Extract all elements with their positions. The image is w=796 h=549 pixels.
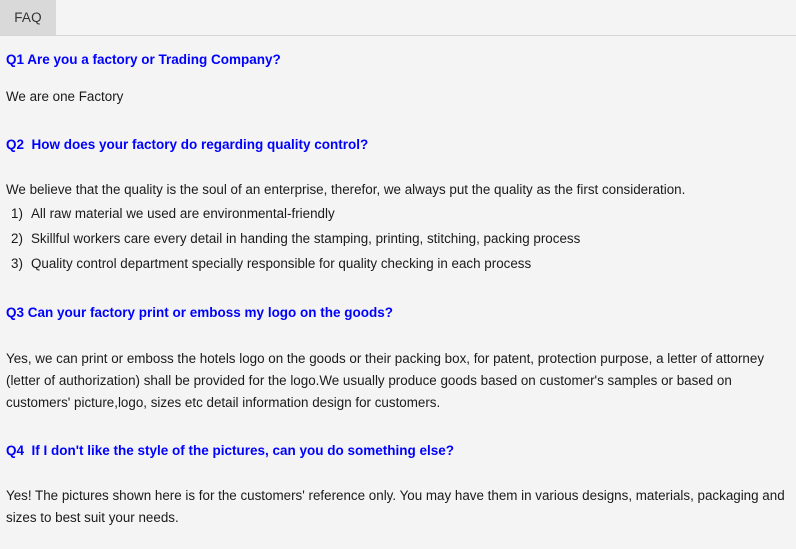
- list-item-marker: 2): [6, 226, 31, 251]
- faq-answer-2-list: 1) All raw material we used are environm…: [6, 201, 790, 276]
- list-item-label: Skillful workers care every detail in ha…: [31, 226, 580, 251]
- list-item-label: Quality control department specially res…: [31, 251, 531, 276]
- faq-answer-2-intro: We believe that the quality is the soul …: [6, 179, 790, 201]
- faq-content: Q1 Are you a factory or Trading Company?…: [0, 52, 796, 549]
- faq-answer-4: Yes! The pictures shown here is for the …: [6, 485, 790, 529]
- list-item: 2) Skillful workers care every detail in…: [6, 226, 790, 251]
- list-item-label: All raw material we used are environment…: [31, 201, 335, 226]
- list-item-marker: 3): [6, 251, 31, 276]
- list-item-marker: 1): [6, 201, 31, 226]
- faq-question-4: Q4 If I don't like the style of the pict…: [6, 443, 790, 459]
- tab-faq[interactable]: FAQ: [0, 0, 56, 35]
- faq-answer-1: We are one Factory: [6, 86, 790, 108]
- list-item: 3) Quality control department specially …: [6, 251, 790, 276]
- faq-question-3: Q3 Can your factory print or emboss my l…: [6, 305, 790, 321]
- list-item: 1) All raw material we used are environm…: [6, 201, 790, 226]
- faq-question-2: Q2 How does your factory do regarding qu…: [6, 137, 790, 153]
- faq-question-1: Q1 Are you a factory or Trading Company?: [6, 52, 790, 68]
- faq-answer-3: Yes, we can print or emboss the hotels l…: [6, 348, 790, 414]
- tab-bar: FAQ: [0, 0, 796, 36]
- tab-faq-label: FAQ: [14, 10, 42, 25]
